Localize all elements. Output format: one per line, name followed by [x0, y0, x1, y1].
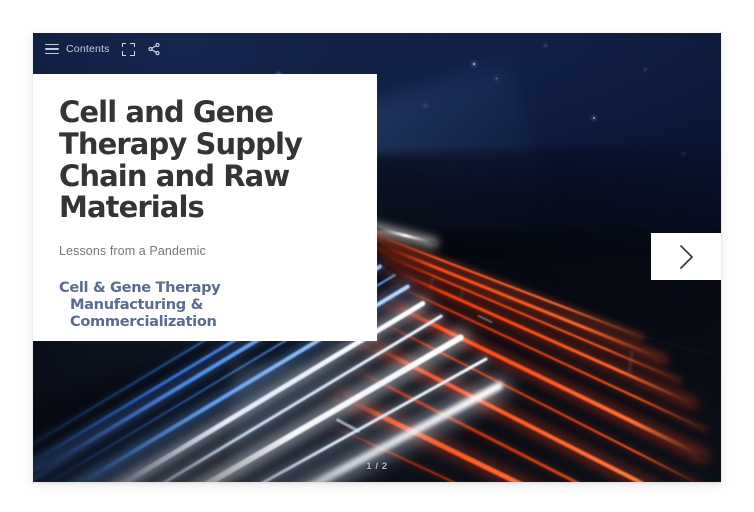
brand-logo-line: Manufacturing &	[59, 297, 351, 314]
fullscreen-icon[interactable]	[122, 43, 135, 56]
contents-label: Contents	[66, 43, 110, 55]
viewer-toolbar: Contents	[33, 33, 721, 65]
brand-logo-line: Commercialization	[59, 314, 351, 331]
page-indicator: 1 / 2	[33, 461, 721, 472]
slide-title-line: Therapy Supply	[59, 129, 351, 161]
next-page-button[interactable]	[651, 233, 721, 280]
slide-title-line: Materials	[59, 192, 351, 224]
brand-logo: Cell & Gene Therapy Manufacturing & Comm…	[59, 280, 351, 330]
slide-title-card: Cell and Gene Therapy Supply Chain and R…	[33, 74, 377, 341]
slide-title-line: Cell and Gene	[59, 97, 351, 129]
chevron-right-icon	[678, 243, 695, 271]
slide-title-line: Chain and Raw	[59, 161, 351, 193]
star	[593, 117, 595, 119]
share-icon[interactable]	[147, 42, 161, 56]
hamburger-icon	[45, 44, 59, 55]
document-viewer: Contents Cell and Gene Therapy Supply Ch…	[33, 33, 721, 482]
slide-title: Cell and Gene Therapy Supply Chain and R…	[59, 97, 351, 224]
contents-button[interactable]: Contents	[45, 43, 110, 55]
brand-logo-line: Cell & Gene Therapy	[59, 280, 351, 297]
slide-subtitle: Lessons from a Pandemic	[59, 244, 351, 258]
